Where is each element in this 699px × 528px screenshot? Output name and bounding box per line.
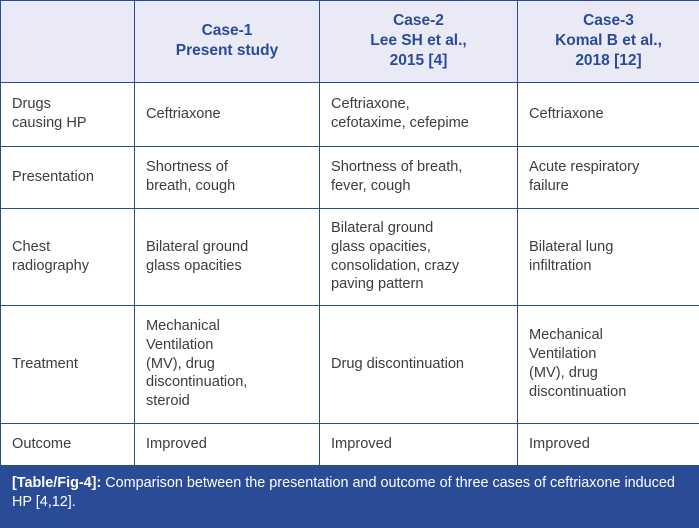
row-label-outcome: Outcome (1, 424, 135, 466)
cell-presentation-case-1: Shortness of breath, cough (135, 147, 320, 209)
table-row: Drugs causing HP Ceftriaxone Ceftriaxone… (1, 83, 699, 147)
comparison-table: Case-1 Present study Case-2 Lee SH et al… (0, 0, 699, 466)
row-label-presentation: Presentation (1, 147, 135, 209)
header-cell-corner (1, 1, 135, 83)
cell-text: Improved (529, 435, 688, 454)
cell-text: Bilateral ground glass opacities, consol… (331, 219, 506, 295)
figure-caption-label: [Table/Fig-4]: (12, 475, 101, 491)
cell-text: Drugs causing HP (12, 95, 123, 133)
figure-caption: [Table/Fig-4]: Comparison between the pr… (0, 466, 699, 528)
table-header: Case-1 Present study Case-2 Lee SH et al… (1, 1, 699, 83)
cell-text: Treatment (12, 355, 123, 374)
header-label-case-1: Case-1 Present study (146, 21, 308, 61)
row-label-treatment: Treatment (1, 306, 135, 424)
cell-text: Drug discontinuation (331, 355, 506, 374)
cell-text: Bilateral lung infiltration (529, 238, 688, 276)
table-row: Outcome Improved Improved Improved (1, 424, 699, 466)
header-cell-case-2: Case-2 Lee SH et al., 2015 [4] (320, 1, 518, 83)
header-row: Case-1 Present study Case-2 Lee SH et al… (1, 1, 699, 83)
figure-caption-text: Comparison between the presentation and … (12, 475, 675, 510)
cell-outcome-case-3: Improved (518, 424, 699, 466)
cell-text: Ceftriaxone, cefotaxime, cefepime (331, 95, 506, 133)
table-row: Treatment Mechanical Ventilation (MV), d… (1, 306, 699, 424)
table-figure: Case-1 Present study Case-2 Lee SH et al… (0, 0, 699, 528)
cell-presentation-case-2: Shortness of breath, fever, cough (320, 147, 518, 209)
cell-text: Ceftriaxone (529, 105, 688, 124)
cell-treatment-case-3: Mechanical Ventilation (MV), drug discon… (518, 306, 699, 424)
cell-text: Improved (331, 435, 506, 454)
table-row: Chest radiography Bilateral ground glass… (1, 209, 699, 306)
row-label-drugs-causing-hp: Drugs causing HP (1, 83, 135, 147)
table-row: Presentation Shortness of breath, cough … (1, 147, 699, 209)
cell-chest-case-3: Bilateral lung infiltration (518, 209, 699, 306)
cell-text: Chest radiography (12, 238, 123, 276)
cell-drugs-case-1: Ceftriaxone (135, 83, 320, 147)
cell-outcome-case-2: Improved (320, 424, 518, 466)
cell-text: Mechanical Ventilation (MV), drug discon… (146, 317, 308, 412)
header-cell-case-1: Case-1 Present study (135, 1, 320, 83)
header-label-case-3: Case-3 Komal B et al., 2018 [12] (529, 11, 688, 70)
cell-outcome-case-1: Improved (135, 424, 320, 466)
cell-drugs-case-2: Ceftriaxone, cefotaxime, cefepime (320, 83, 518, 147)
cell-text: Mechanical Ventilation (MV), drug discon… (529, 326, 688, 402)
cell-chest-case-2: Bilateral ground glass opacities, consol… (320, 209, 518, 306)
cell-text: Bilateral ground glass opacities (146, 238, 308, 276)
cell-text: Shortness of breath, cough (146, 158, 308, 196)
header-cell-case-3: Case-3 Komal B et al., 2018 [12] (518, 1, 699, 83)
cell-treatment-case-1: Mechanical Ventilation (MV), drug discon… (135, 306, 320, 424)
cell-text: Presentation (12, 168, 123, 187)
cell-treatment-case-2: Drug discontinuation (320, 306, 518, 424)
cell-presentation-case-3: Acute respiratory failure (518, 147, 699, 209)
row-label-chest-radiography: Chest radiography (1, 209, 135, 306)
cell-text: Outcome (12, 435, 123, 454)
table-body: Drugs causing HP Ceftriaxone Ceftriaxone… (1, 83, 699, 466)
cell-chest-case-1: Bilateral ground glass opacities (135, 209, 320, 306)
cell-drugs-case-3: Ceftriaxone (518, 83, 699, 147)
header-label-case-2: Case-2 Lee SH et al., 2015 [4] (331, 11, 506, 70)
cell-text: Acute respiratory failure (529, 158, 688, 196)
cell-text: Improved (146, 435, 308, 454)
cell-text: Shortness of breath, fever, cough (331, 158, 506, 196)
cell-text: Ceftriaxone (146, 105, 308, 124)
